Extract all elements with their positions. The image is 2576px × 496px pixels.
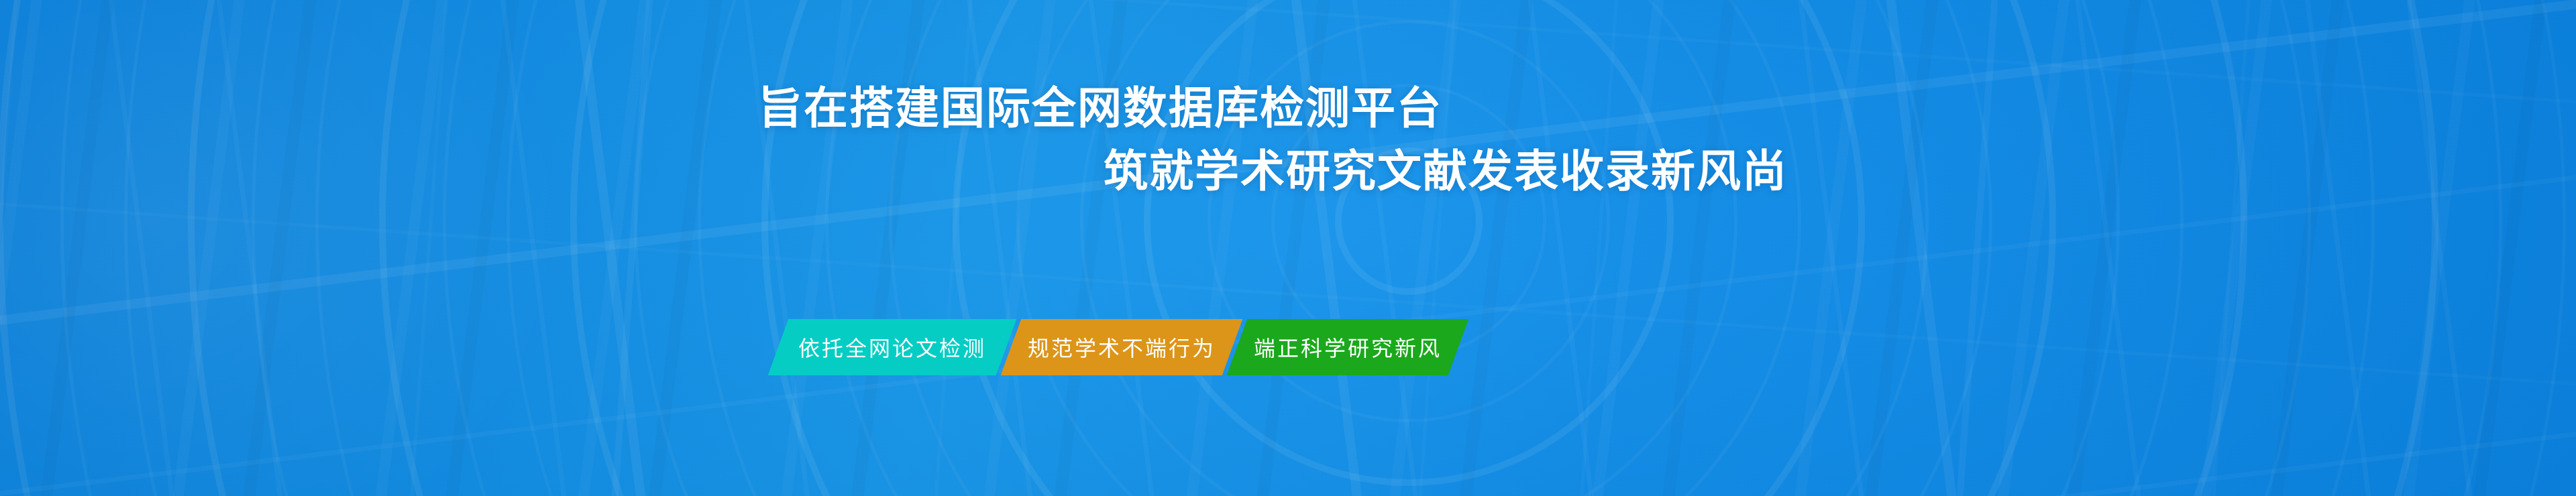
tab-label-1: 依托全网论文检测 bbox=[798, 332, 986, 363]
feature-tab-strip: 依托全网论文检测 规范学术不端行为 端正科学研究新风 bbox=[778, 319, 1458, 375]
blueprint-grid-decoration-secondary bbox=[0, 0, 2576, 496]
tab-label-3: 端正科学研究新风 bbox=[1254, 332, 1442, 363]
tab-label-2: 规范学术不端行为 bbox=[1028, 332, 1216, 363]
promo-banner: 旨在搭建国际全网数据库检测平台 筑就学术研究文献发表收录新风尚 依托全网论文检测… bbox=[0, 0, 2576, 496]
tab-research-ethics[interactable]: 端正科学研究新风 bbox=[1227, 319, 1469, 375]
tab-full-network-detection[interactable]: 依托全网论文检测 bbox=[768, 319, 1017, 375]
headline-block: 旨在搭建国际全网数据库检测平台 筑就学术研究文献发表收录新风尚 bbox=[0, 86, 2576, 193]
headline-line-2: 筑就学术研究文献发表收录新风尚 bbox=[0, 149, 2576, 193]
headline-line-1: 旨在搭建国际全网数据库检测平台 bbox=[0, 86, 2576, 130]
tab-academic-misconduct[interactable]: 规范学术不端行为 bbox=[1001, 319, 1243, 375]
